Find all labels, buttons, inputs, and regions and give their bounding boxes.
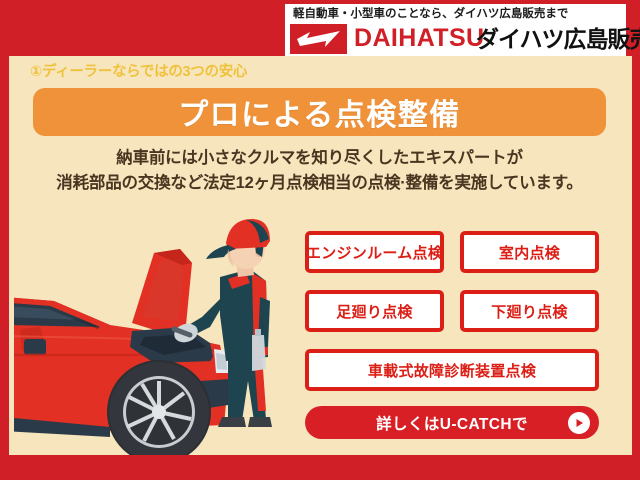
play-arrow-icon[interactable] [568, 412, 590, 434]
daihatsu-d-mark-icon [290, 24, 347, 54]
cta-label: 詳しくはU-CATCHで [376, 412, 528, 434]
inspection-item-box[interactable]: 下廻り点検 [460, 290, 599, 332]
brand-wordmark-jp: ダイハツ広島販売 [476, 24, 640, 54]
section-title-bar: プロによる点検整備 [33, 88, 606, 136]
brand-wordmark-latin: DAIHATSU [354, 23, 485, 53]
header-tagline: 軽自動車・小型車のことなら、ダイハツ広島販売まで [293, 6, 623, 23]
brand-logo: DAIHATSU ダイハツ広島販売 [290, 24, 625, 54]
section-description: 納車前には小さなクルマを知り尽くしたエキスパートが 消耗部品の交換など法定12ヶ… [33, 146, 606, 196]
inspection-item-label: 足廻り点検 [336, 301, 413, 322]
page-title: プロによる点検整備 [178, 90, 461, 134]
section-label: ①ディーラーならではの3つの安心 [30, 60, 247, 81]
description-line-1: 納車前には小さなクルマを知り尽くしたエキスパートが [33, 146, 606, 171]
mechanic-inspecting-red-car-illustration [14, 205, 306, 455]
inspection-item-box[interactable]: 足廻り点検 [305, 290, 444, 332]
description-line-2: 消耗部品の交換など法定12ヶ月点検相当の点検·整備を実施しています。 [33, 171, 606, 196]
inspection-item-label: 車載式故障診断装置点検 [368, 360, 536, 381]
header-band: 軽自動車・小型車のことなら、ダイハツ広島販売まで DAIHATSU ダイハツ広島… [0, 0, 640, 56]
inspection-item-label: 下廻り点検 [491, 301, 568, 322]
cta-button[interactable]: 詳しくはU-CATCHで [305, 406, 599, 439]
promo-banner: 軽自動車・小型車のことなら、ダイハツ広島販売まで DAIHATSU ダイハツ広島… [0, 0, 640, 480]
inspection-item-box[interactable]: 車載式故障診断装置点検 [305, 349, 599, 391]
inspection-item-box[interactable]: エンジンルーム点検 [305, 231, 444, 273]
inspection-item-label: エンジンルーム点検 [306, 242, 443, 263]
inspection-item-label: 室内点検 [499, 242, 560, 263]
inspection-item-box[interactable]: 室内点検 [460, 231, 599, 273]
